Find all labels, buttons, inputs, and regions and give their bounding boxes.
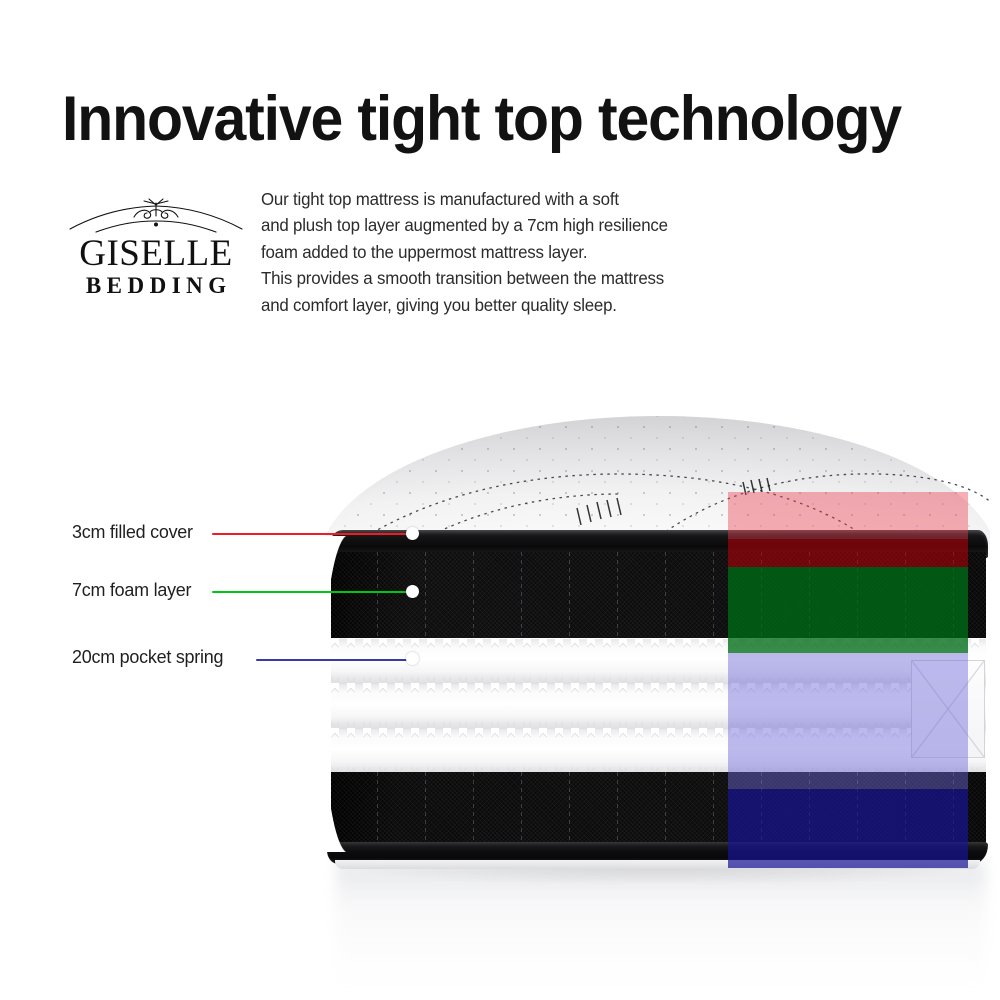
leader-dot-filled-cover bbox=[406, 527, 419, 540]
ornament-center-dot bbox=[154, 223, 158, 227]
description-line-1: Our tight top mattress is manufactured w… bbox=[261, 186, 717, 212]
description-line-4: This provides a smooth transition betwee… bbox=[261, 265, 717, 291]
mattress-left-corner-mask bbox=[323, 536, 349, 852]
brand-name-primary: GISELLE bbox=[66, 236, 246, 272]
callout-label-foam-layer: 7cm foam layer bbox=[72, 579, 191, 601]
brand-logo: GISELLE BEDDING bbox=[66, 196, 246, 298]
description-line-3: foam added to the uppermost mattress lay… bbox=[261, 239, 717, 265]
ornament-arch-icon bbox=[66, 196, 246, 238]
overlay-filled-cover-highlight bbox=[728, 492, 968, 539]
mattress-illustration bbox=[325, 410, 990, 870]
page-title: Innovative tight top technology bbox=[62, 86, 904, 152]
mattress-cutaway-figure bbox=[0, 395, 1000, 1000]
leader-line-filled-cover bbox=[212, 533, 414, 535]
leader-line-foam-layer bbox=[212, 591, 414, 593]
overlay-base-layer bbox=[728, 789, 968, 868]
product-infographic: Innovative tight top technology GISELLE … bbox=[0, 0, 1000, 1000]
overlay-pocket-spring bbox=[728, 653, 968, 789]
description-line-2: and plush top layer augmented by a 7cm h… bbox=[261, 212, 717, 238]
overlay-foam-layer bbox=[728, 567, 968, 653]
callout-label-filled-cover: 3cm filled cover bbox=[72, 521, 193, 543]
leader-line-pocket-spring bbox=[256, 659, 414, 661]
leader-dot-foam-layer bbox=[406, 585, 419, 598]
floor-reflection bbox=[336, 865, 986, 985]
callout-label-pocket-spring: 20cm pocket spring bbox=[72, 646, 223, 668]
overlay-filled-cover-edge bbox=[728, 539, 968, 567]
description-line-5: and comfort layer, giving you better qua… bbox=[261, 292, 717, 318]
brand-name-secondary: BEDDING bbox=[66, 273, 246, 299]
leader-dot-pocket-spring bbox=[406, 652, 419, 665]
description-text: Our tight top mattress is manufactured w… bbox=[261, 186, 717, 318]
